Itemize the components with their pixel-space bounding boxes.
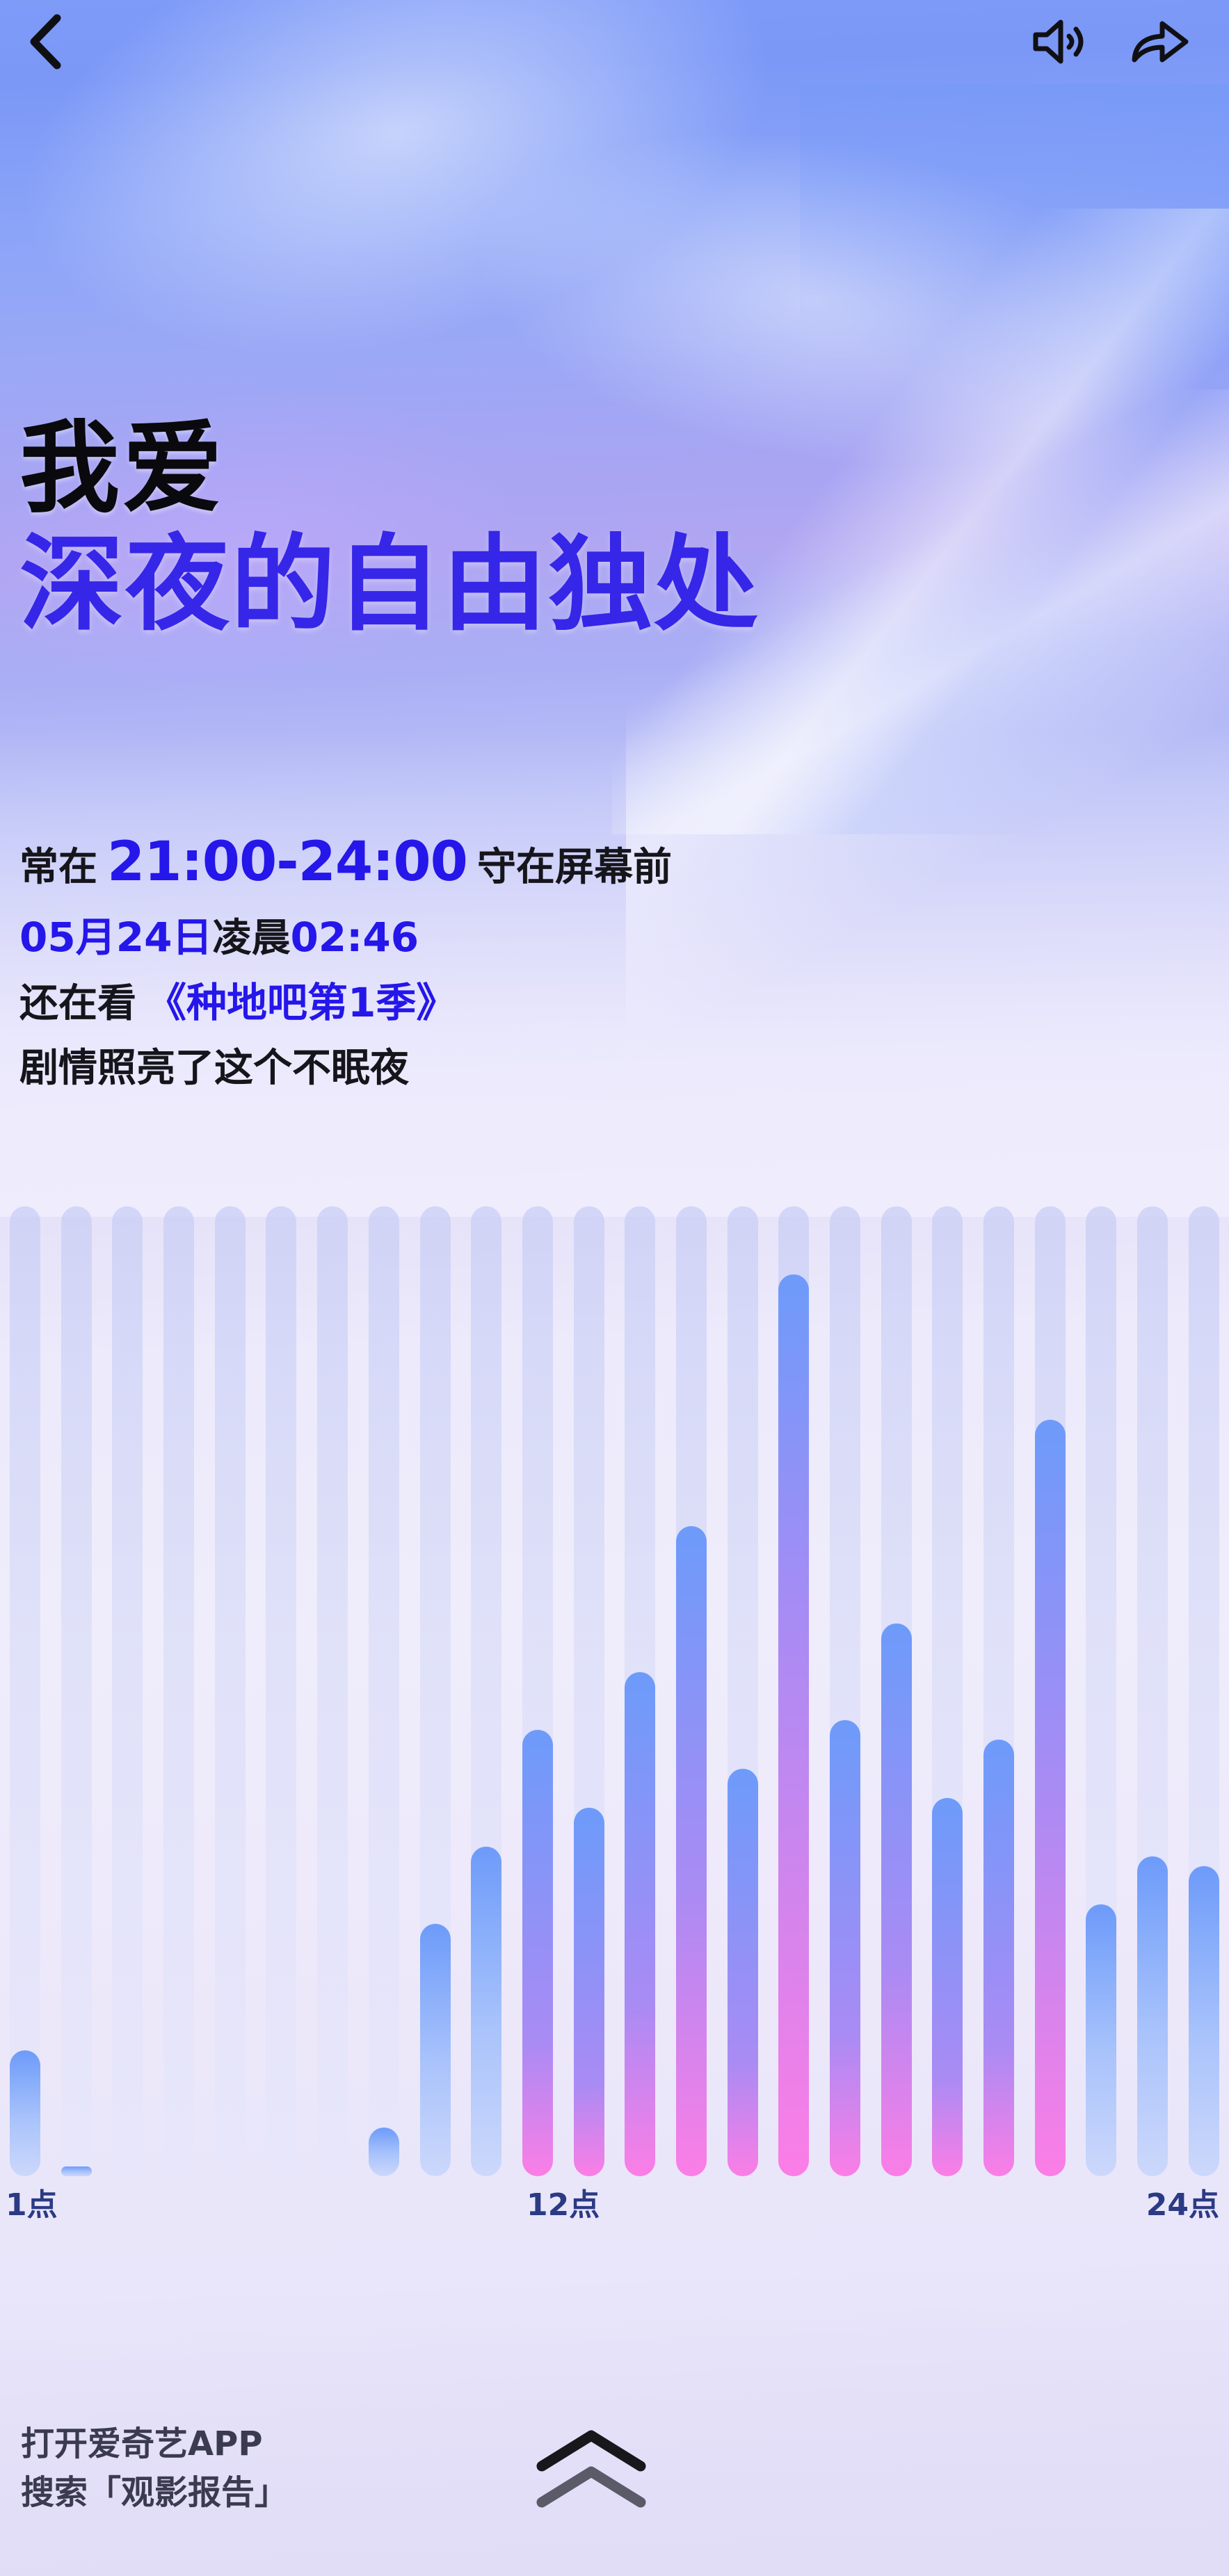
headline-block: 我爱 深夜的自由独处 <box>19 417 760 640</box>
tagline-text: 剧情照亮了这个不眠夜 <box>19 1037 409 1093</box>
info-row-latest-session: 05月24日 凌晨 02:46 <box>19 905 672 963</box>
bar-track-container <box>10 1206 1219 2176</box>
share-arrow-icon <box>1127 17 1191 67</box>
bar-slot <box>1189 1206 1219 2176</box>
latest-session-period: 凌晨 <box>212 907 290 963</box>
bar-track <box>163 1206 194 2176</box>
bar-slot <box>1035 1206 1066 2176</box>
bar-fill <box>1189 1866 1219 2176</box>
headline-line-2: 深夜的自由独处 <box>19 530 760 640</box>
chart-x-axis: 1点 12点 24点 <box>0 2180 1229 2242</box>
bar-slot <box>10 1206 40 2176</box>
bar-track <box>10 1206 40 2176</box>
last-watched-title: 《种地吧第1季》 <box>146 970 456 1028</box>
scroll-up-button[interactable] <box>525 2427 657 2511</box>
bar-fill <box>625 1672 655 2176</box>
bar-fill <box>61 2166 92 2176</box>
bar-slot <box>1137 1206 1168 2176</box>
background-swirl <box>800 83 1229 612</box>
footer-bar: 打开爱奇艺APP 搜索「观影报告」 <box>0 2381 1229 2576</box>
sound-button[interactable] <box>1030 17 1127 67</box>
bar-slot <box>574 1206 604 2176</box>
bar-slot <box>369 1206 399 2176</box>
bar-slot <box>522 1206 553 2176</box>
double-chevron-up-icon <box>525 2427 657 2511</box>
hourly-activity-chart: 1点 12点 24点 <box>0 1206 1229 2315</box>
latest-session-time: 02:46 <box>290 914 419 961</box>
bar-slot <box>728 1206 758 2176</box>
bar-fill <box>778 1274 809 2176</box>
bar-fill <box>522 1730 553 2176</box>
bar-fill <box>1086 1904 1116 2176</box>
bar-slot <box>317 1206 348 2176</box>
bar-slot <box>778 1206 809 2176</box>
info-row-last-watched: 还在看 《种地吧第1季》 <box>19 970 672 1028</box>
bar-fill <box>10 2050 40 2176</box>
headline-line-1: 我爱 <box>19 417 760 519</box>
bar-fill <box>1035 1420 1066 2176</box>
info-row-tagline: 剧情照亮了这个不眠夜 <box>19 1037 672 1093</box>
bar-track <box>112 1206 143 2176</box>
info-row-viewing-window: 常在 21:00-24:00 守在屏幕前 <box>19 831 672 893</box>
bar-fill <box>932 1798 963 2176</box>
bar-track <box>369 1206 399 2176</box>
latest-session-date: 05月24日 <box>19 905 212 963</box>
bar-slot <box>1086 1206 1116 2176</box>
bar-slot <box>676 1206 707 2176</box>
x-axis-label-1: 1点 <box>6 2180 58 2224</box>
bar-slot <box>625 1206 655 2176</box>
bar-slot <box>471 1206 501 2176</box>
bar-slot <box>266 1206 296 2176</box>
bar-slot <box>112 1206 143 2176</box>
bar-slot <box>932 1206 963 2176</box>
footer-line-1: 打开爱奇艺APP <box>21 2420 288 2469</box>
footer-line-2: 搜索「观影报告」 <box>21 2469 288 2518</box>
report-page: 我爱 深夜的自由独处 常在 21:00-24:00 守在屏幕前 05月24日 凌… <box>0 0 1229 2576</box>
bar-slot <box>61 1206 92 2176</box>
x-axis-label-12: 12点 <box>527 2180 600 2224</box>
bar-fill <box>369 2128 399 2176</box>
viewing-window-prefix: 常在 <box>19 836 97 892</box>
top-bar <box>0 0 1229 83</box>
back-button[interactable] <box>25 13 65 70</box>
bar-fill <box>881 1623 912 2176</box>
footer-text-block: 打开爱奇艺APP 搜索「观影报告」 <box>21 2420 288 2517</box>
bar-track <box>266 1206 296 2176</box>
speaker-wave-icon <box>1030 17 1090 67</box>
bar-track <box>317 1206 348 2176</box>
last-watched-prefix: 还在看 <box>19 972 136 1028</box>
bar-fill <box>983 1740 1014 2176</box>
bar-slot <box>830 1206 860 2176</box>
share-button[interactable] <box>1127 17 1204 67</box>
bar-slot <box>163 1206 194 2176</box>
viewing-window-time: 21:00-24:00 <box>107 831 467 893</box>
bar-fill <box>574 1808 604 2176</box>
bar-slot <box>420 1206 451 2176</box>
bar-slot <box>983 1206 1014 2176</box>
bar-fill <box>471 1847 501 2176</box>
bar-slot <box>215 1206 246 2176</box>
x-axis-label-24: 24点 <box>1146 2180 1219 2224</box>
bar-slot <box>881 1206 912 2176</box>
bar-fill <box>676 1526 707 2176</box>
bar-track <box>215 1206 246 2176</box>
info-block: 常在 21:00-24:00 守在屏幕前 05月24日 凌晨 02:46 还在看… <box>19 831 672 1104</box>
bar-fill <box>728 1769 758 2176</box>
chevron-left-icon <box>25 13 65 70</box>
bar-fill <box>1137 1856 1168 2176</box>
bar-track <box>61 1206 92 2176</box>
viewing-window-suffix: 守在屏幕前 <box>477 836 672 892</box>
bar-fill <box>830 1720 860 2176</box>
bar-fill <box>420 1924 451 2176</box>
